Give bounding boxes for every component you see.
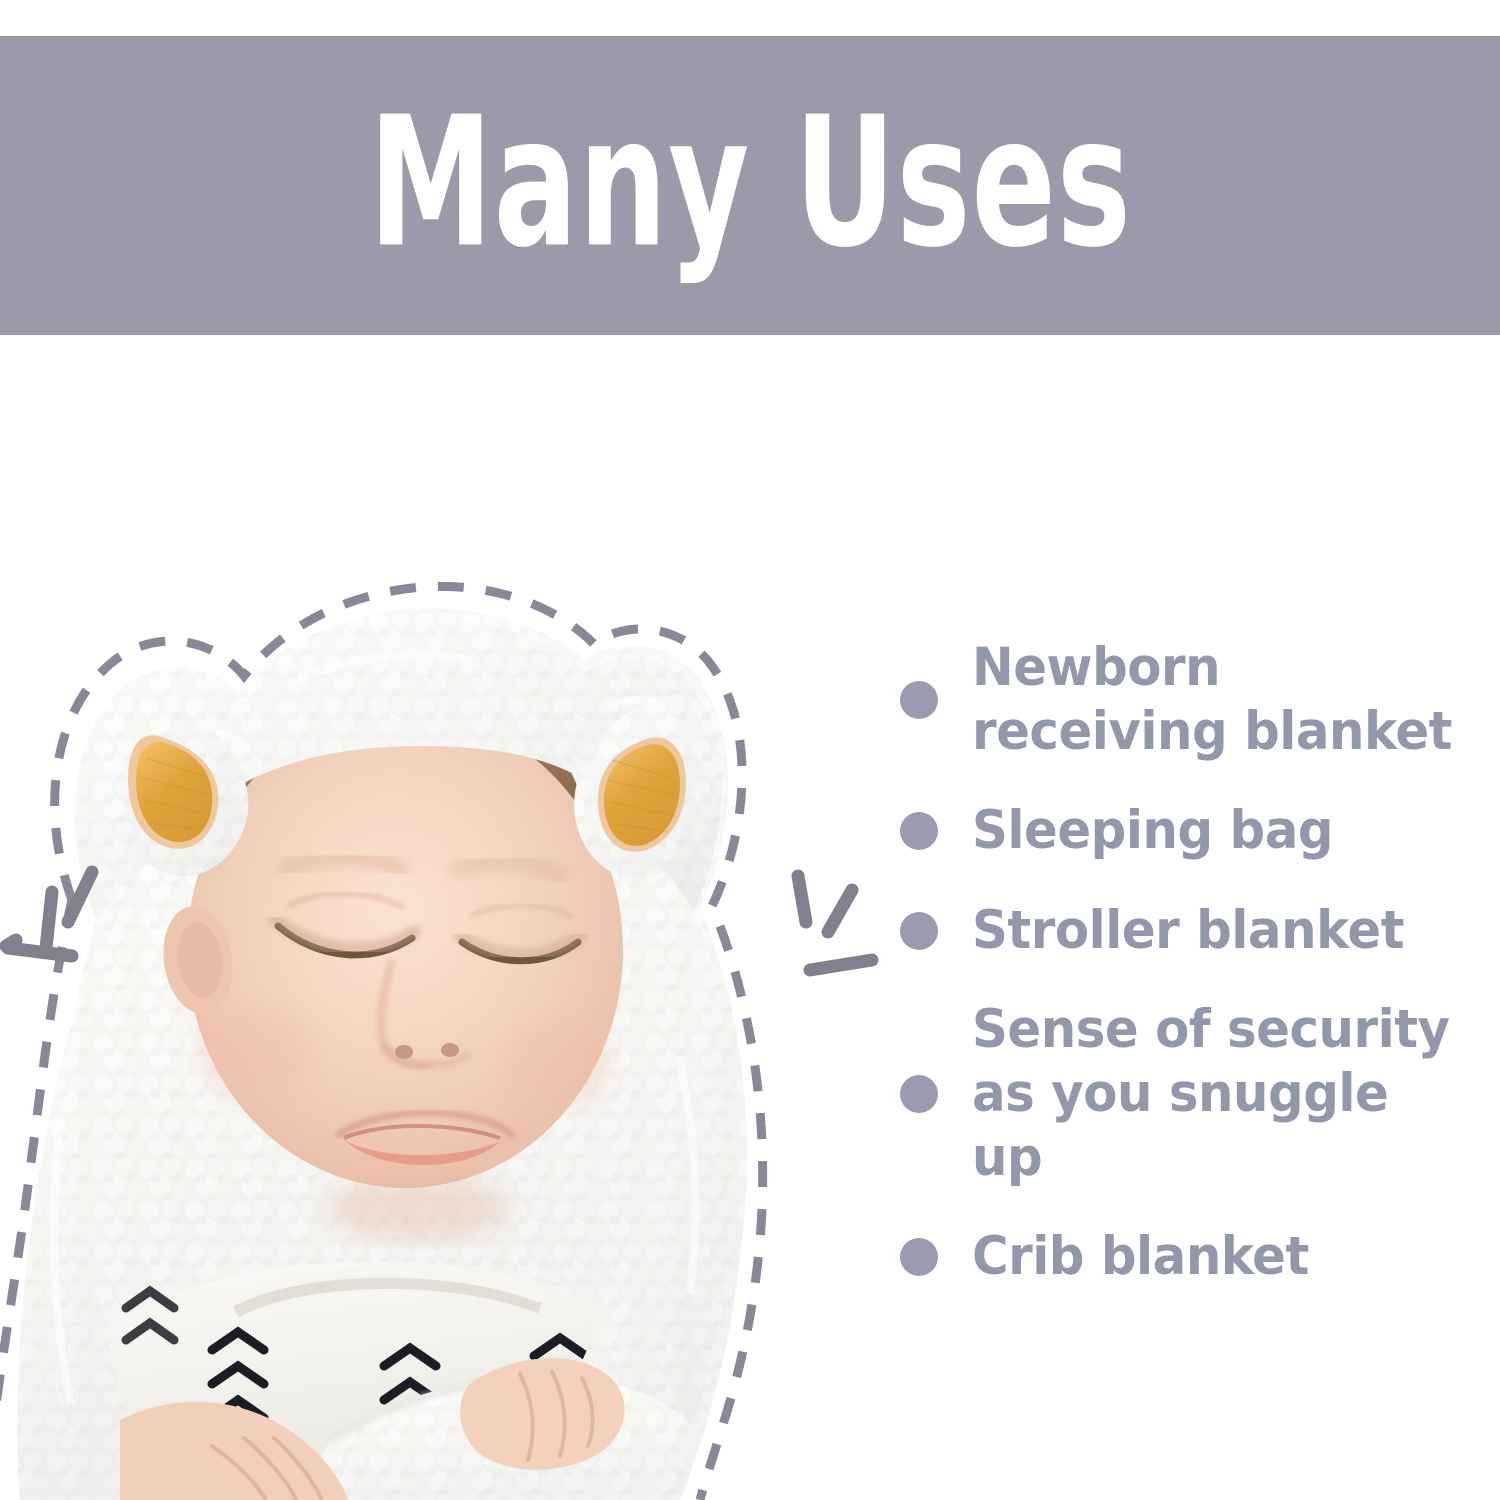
- list-item: Sense of security as you snuggle up: [900, 998, 1485, 1189]
- use-label: Sense of security as you snuggle up: [972, 998, 1454, 1189]
- uses-list: Newborn receiving blanket Sleeping bag S…: [900, 636, 1485, 1289]
- product-feature-panel: Many Uses: [0, 0, 1500, 1500]
- bullet-dot-icon: [900, 1238, 938, 1276]
- use-label: Stroller blanket: [972, 899, 1404, 963]
- use-label: Newborn receiving blanket: [972, 636, 1454, 763]
- use-label: Sleeping bag: [972, 799, 1333, 863]
- bullet-dot-icon: [900, 912, 938, 950]
- list-item: Sleeping bag: [900, 799, 1485, 863]
- page-title: Many Uses: [368, 93, 1131, 272]
- list-item: Newborn receiving blanket: [900, 636, 1485, 763]
- header-banner: Many Uses: [0, 36, 1500, 335]
- bullet-dot-icon: [900, 1075, 938, 1113]
- baby-in-blanket-illustration: [0, 360, 880, 1500]
- list-item: Crib blanket: [900, 1225, 1485, 1289]
- use-label: Crib blanket: [972, 1225, 1309, 1289]
- bullet-dot-icon: [900, 681, 938, 719]
- bullet-dot-icon: [900, 812, 938, 850]
- product-photo: [0, 360, 880, 1500]
- list-item: Stroller blanket: [900, 899, 1485, 963]
